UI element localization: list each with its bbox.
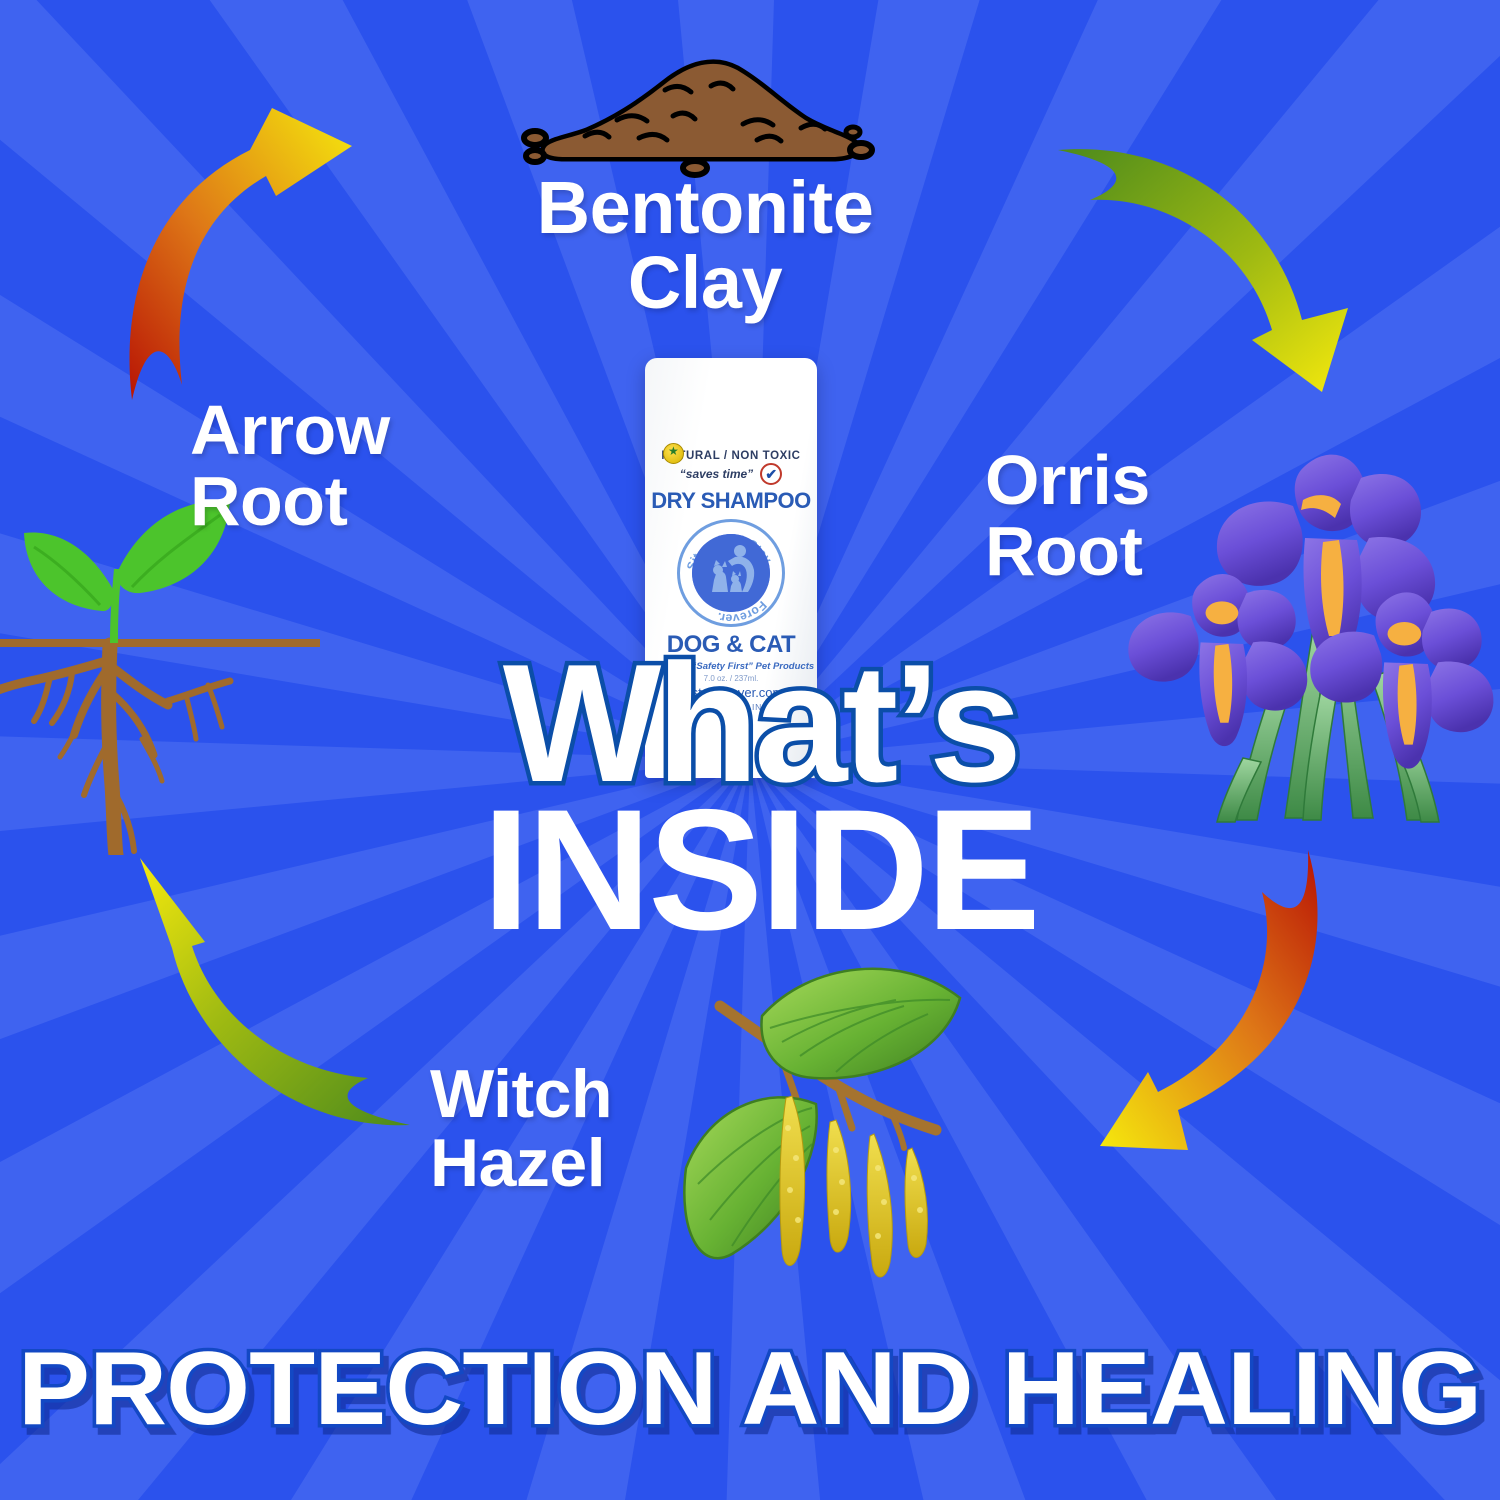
ingredient-label-witch-hazel: Witch Hazel bbox=[430, 1060, 730, 1199]
bottom-banner-text: PROTECTION AND HEALING bbox=[18, 1330, 1481, 1449]
product-type: DRY SHAMPOO bbox=[645, 488, 817, 514]
bottom-banner: PROTECTION AND HEALING bbox=[0, 1330, 1500, 1449]
check-icon: ✔ bbox=[760, 463, 782, 485]
brand-logo: Sit. Stay. Forever. bbox=[677, 519, 785, 627]
headline-line-2: INSIDE bbox=[440, 795, 1080, 946]
organic-seal-icon bbox=[663, 443, 684, 464]
brand-logo-silhouette bbox=[692, 534, 770, 612]
infographic-canvas: NATURAL / NON TOXIC “saves time” ✔ DRY S… bbox=[0, 0, 1500, 1500]
headline-line-1: What’s bbox=[440, 655, 1080, 793]
ingredient-label-orris-root: Orris Root bbox=[985, 445, 1305, 588]
arrow-top-left-icon bbox=[130, 108, 352, 400]
ingredient-label-bentonite-clay: Bentonite Clay bbox=[470, 170, 940, 321]
arrow-bottom-right-icon bbox=[1100, 850, 1318, 1150]
clay-pile-icon bbox=[505, 28, 885, 178]
arrow-top-right-icon bbox=[1058, 149, 1348, 392]
sprout-roots-icon bbox=[0, 495, 320, 855]
saves-time-row: “saves time” ✔ bbox=[645, 463, 817, 485]
ingredient-label-arrow-root: Arrow Root bbox=[190, 395, 510, 538]
arrow-bottom-left-icon bbox=[140, 858, 410, 1125]
badge-saves-time: “saves time” bbox=[680, 467, 753, 481]
headline: What’s INSIDE bbox=[440, 655, 1080, 946]
